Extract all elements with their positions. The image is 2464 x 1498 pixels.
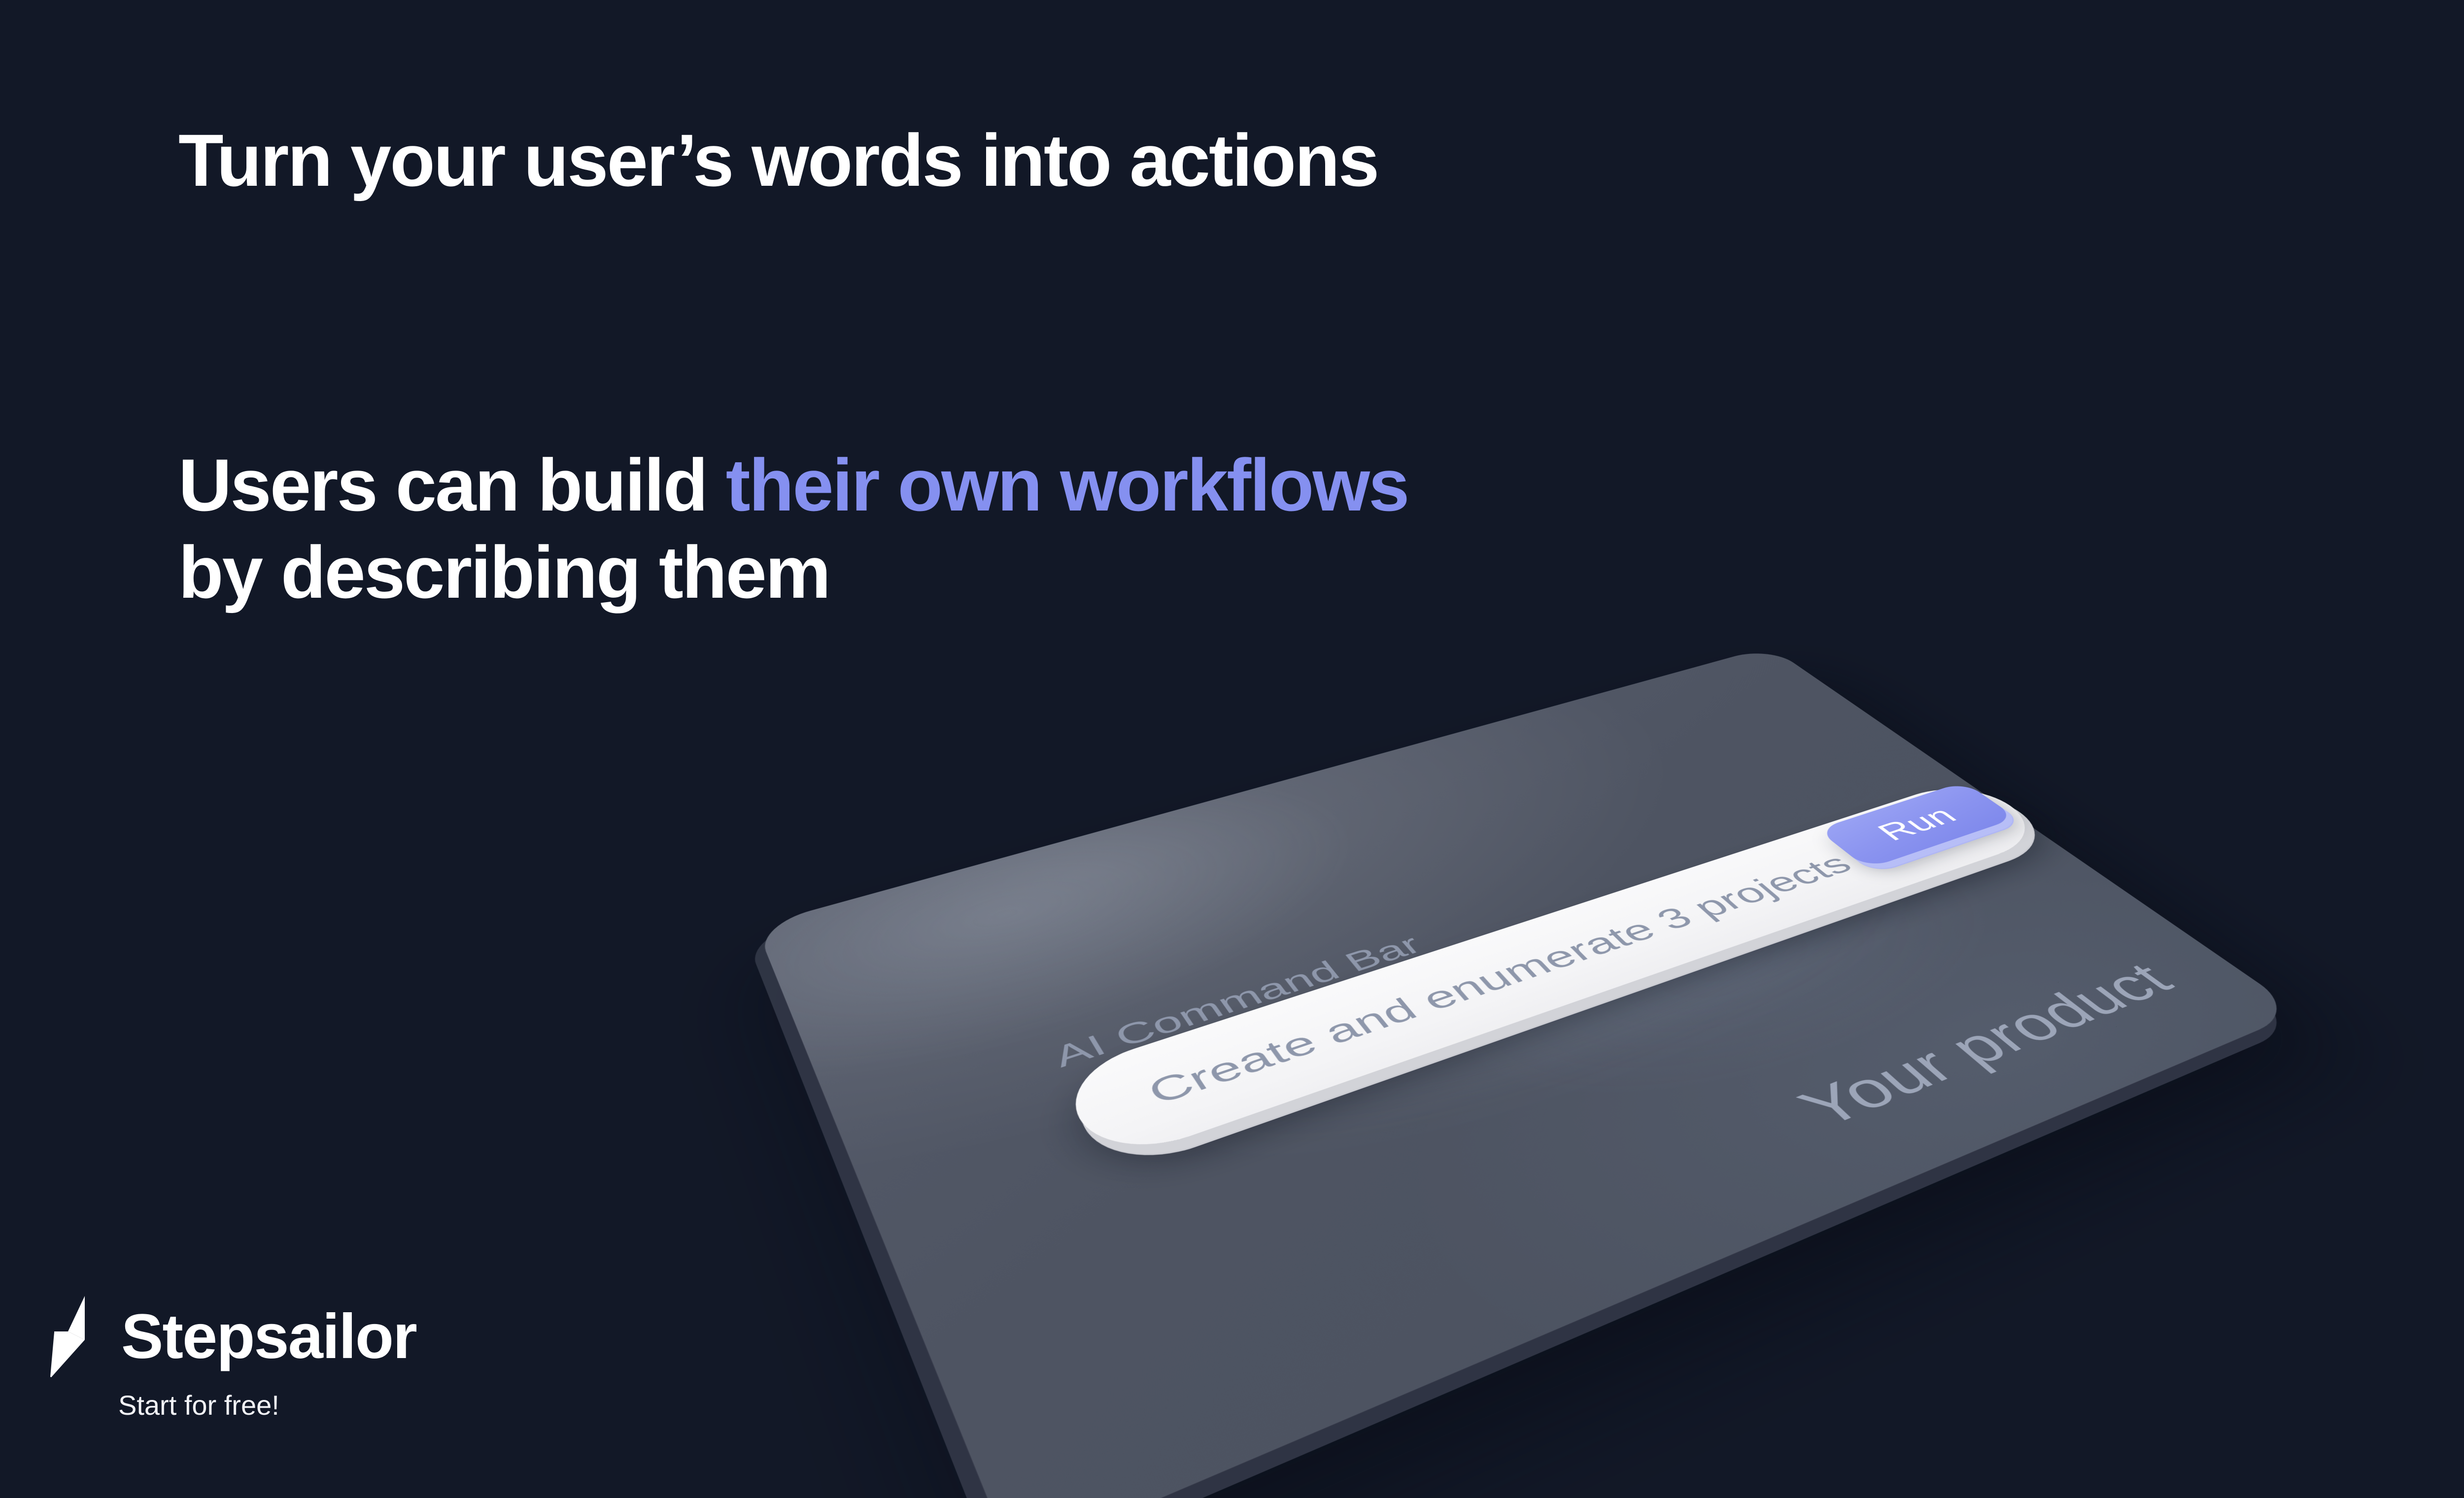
your-product-panel: Your product AI Command Bar Create and e… — [755, 647, 2300, 1498]
ai-command-bar[interactable]: Create and enumerate 3 projects Run — [1055, 777, 2053, 1165]
brand-name: Stepsailor — [121, 1305, 416, 1368]
your-product-label: Your product — [1788, 956, 2185, 1135]
scene-transform-group: Your product AI Command Bar Create and e… — [615, 560, 2464, 1498]
brand-lockup: Stepsailor — [43, 1295, 416, 1379]
hero-copy: Turn your user’s words into actions User… — [178, 123, 1706, 197]
panel-sheen-overlay — [755, 647, 2300, 1498]
slide-canvas: Turn your user’s words into actions User… — [0, 0, 2464, 1498]
stepsailor-sail-mark-icon — [43, 1295, 104, 1379]
brand-footer: Stepsailor Start for free! — [43, 1295, 416, 1419]
run-button[interactable]: Run — [1817, 782, 2017, 869]
hero-subheadline-plain: Users can build — [178, 443, 726, 526]
command-bar-input[interactable]: Create and enumerate 3 projects — [1142, 850, 1859, 1110]
page-title: Turn your user’s words into actions — [178, 123, 1706, 197]
start-for-free-link[interactable]: Start for free! — [118, 1392, 416, 1419]
run-button-label: Run — [1871, 803, 1964, 845]
product-mockup-scene: Your product AI Command Bar Create and e… — [779, 345, 2464, 1498]
